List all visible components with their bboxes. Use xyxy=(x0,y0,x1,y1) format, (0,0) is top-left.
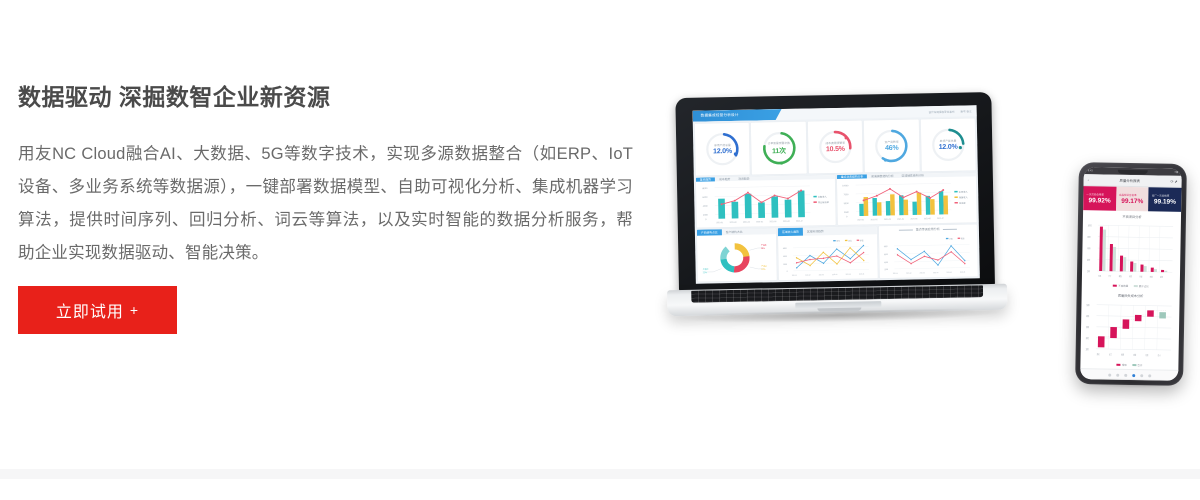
phone-screen: 9:41 ▪▪▮ ‹ 质量分析报表 ⟳ ⬈ 一次交验合格率 99.92% xyxy=(1080,167,1182,381)
svg-text:2021-03: 2021-03 xyxy=(884,219,891,221)
svg-text:外观: 外观 xyxy=(1098,273,1101,278)
svg-text:2021-01: 2021-01 xyxy=(892,273,897,275)
phone-pareto-chart: 不良项目分析 xyxy=(1082,210,1181,291)
phone-kpi-value: 99.92% xyxy=(1089,197,1111,204)
gauge-ring: 订单质量预警次数 11次 xyxy=(759,128,800,169)
nav-actions[interactable]: ⟳ ⬈ xyxy=(1171,179,1178,183)
svg-text:预算收入: 预算收入 xyxy=(959,195,969,199)
svg-text:华南: 华南 xyxy=(860,238,864,242)
svg-text:2021-04: 2021-04 xyxy=(933,272,938,274)
svg-text:1000: 1000 xyxy=(1088,225,1093,227)
svg-text:2000: 2000 xyxy=(703,215,709,217)
svg-text:2021-05: 2021-05 xyxy=(946,272,951,274)
svg-text:2021-06: 2021-06 xyxy=(960,271,965,273)
hero-description: 用友NC Cloud融合AI、大数据、5G等数字技术，实现多源数据整合（如ERP… xyxy=(18,138,633,270)
svg-text:500: 500 xyxy=(1086,304,1089,308)
phone-waterfall-chart: 质量损失成本分析 xyxy=(1080,289,1179,370)
svg-text:34%: 34% xyxy=(761,269,765,271)
svg-text:华北: 华北 xyxy=(848,238,852,242)
svg-text:华东: 华东 xyxy=(837,238,841,242)
plus-icon: + xyxy=(130,302,139,318)
legend-item: 不良数量 xyxy=(1113,284,1129,288)
kpi-value: 11次 xyxy=(772,145,786,155)
svg-text:100: 100 xyxy=(1086,348,1089,352)
svg-text:索赔: 索赔 xyxy=(1133,352,1136,357)
region-line-chart: 华东 华北 华南 xyxy=(778,234,877,280)
laptop-mockup: 数据集成经营分析设计 设计布局保存导出发布 账号 张三 xyxy=(663,92,1008,343)
try-now-button[interactable]: 立即试用 + xyxy=(18,286,177,334)
kpi-value: 12.0% xyxy=(713,148,732,155)
svg-text:600: 600 xyxy=(1087,248,1091,250)
svg-text:2021-01: 2021-01 xyxy=(792,275,797,277)
hero-copy: 数据驱动 深掘数智企业新资源 用友NC Cloud融合AI、大数据、5G等数字技… xyxy=(18,84,633,270)
svg-text:2021-04: 2021-04 xyxy=(897,219,904,221)
kpi-card[interactable]: 成本费用预警率 10.5% xyxy=(808,120,863,173)
laptop-screen: 数据集成经营分析设计 设计布局保存导出发布 账号 张三 xyxy=(693,105,980,283)
product-mix-panel: 产品结构占比 客户结构占比 xyxy=(697,228,777,282)
kpi-label: 订单质量预警次数 xyxy=(768,140,790,144)
chart-canvas: 500400 300200100 xyxy=(1084,298,1175,363)
legend-item: 累计占比 xyxy=(1133,284,1149,288)
svg-text:性能: 性能 xyxy=(1139,274,1142,279)
svg-text:材质: 材质 xyxy=(1129,274,1132,279)
legend-item: 合计 xyxy=(1132,363,1143,367)
svg-text:4000: 4000 xyxy=(703,206,709,208)
try-now-label: 立即试用 xyxy=(56,298,124,322)
svg-text:包装: 包装 xyxy=(1150,274,1153,279)
kpi-row: 单项产能总量 12.0% xyxy=(693,116,978,177)
svg-text:200: 200 xyxy=(1086,337,1089,341)
svg-text:0: 0 xyxy=(705,219,707,221)
svg-text:合计: 合计 xyxy=(1158,353,1161,358)
laptop-lid: 数据集成经营分析设计 设计布局保存导出发布 账号 张三 xyxy=(675,92,995,294)
svg-text:完成率: 完成率 xyxy=(959,201,966,205)
svg-text:产品A: 产品A xyxy=(761,264,767,268)
svg-text:检验: 检验 xyxy=(1145,352,1148,357)
svg-text:6000: 6000 xyxy=(703,197,709,199)
svg-text:计划: 计划 xyxy=(949,236,953,240)
page-dot[interactable] xyxy=(1148,374,1151,377)
mid-chart-row: 营收趋势 成本趋势 利润趋势 xyxy=(694,172,979,227)
svg-text:期初: 期初 xyxy=(1097,351,1100,356)
svg-text:实际: 实际 xyxy=(961,236,965,240)
phone-notch xyxy=(1118,169,1148,174)
svg-text:产品B: 产品B xyxy=(761,243,767,247)
svg-text:300: 300 xyxy=(1086,326,1089,330)
svg-text:2021-02: 2021-02 xyxy=(730,222,737,224)
kpi-value: 10.5% xyxy=(826,146,845,153)
svg-text:5000: 5000 xyxy=(844,203,850,205)
svg-text:400: 400 xyxy=(1087,260,1091,262)
svg-text:2000: 2000 xyxy=(783,264,787,266)
phone-shadow xyxy=(1083,378,1175,389)
phone-nav-title: 质量分析报表 xyxy=(1119,178,1139,183)
svg-text:2021-05: 2021-05 xyxy=(846,274,851,276)
svg-text:2021-03: 2021-03 xyxy=(743,222,750,224)
phone-kpi-card[interactable]: 成品检验合格率 99.17% xyxy=(1116,187,1149,212)
chart-canvas: 1000800 600400200 xyxy=(1086,219,1177,284)
svg-text:同比增长率: 同比增长率 xyxy=(818,200,830,204)
kpi-card[interactable]: 单项产能总量 12.0% xyxy=(695,123,750,176)
svg-text:实际收入: 实际收入 xyxy=(959,190,969,194)
phone-kpi-value: 99.19% xyxy=(1154,198,1176,205)
page-dot-active[interactable] xyxy=(1132,374,1135,377)
phone-kpi-value: 99.17% xyxy=(1121,198,1143,205)
svg-text:返工: 返工 xyxy=(1109,352,1112,357)
page-dot[interactable] xyxy=(1108,373,1111,376)
svg-text:2021-02: 2021-02 xyxy=(805,274,810,276)
phone-kpi-label: 出厂一次合格率 xyxy=(1149,193,1170,197)
svg-text:200: 200 xyxy=(1087,271,1091,273)
svg-text:2021-05: 2021-05 xyxy=(911,218,918,220)
toolbar-account[interactable]: 账号 张三 xyxy=(960,109,971,113)
region-trend-panel: 区域收入趋势 区域利润趋势 华东 华北 华南 xyxy=(778,226,877,280)
svg-text:8000: 8000 xyxy=(883,246,887,248)
kpi-card[interactable]: 资产周转率 46% xyxy=(864,119,919,172)
svg-text:22%: 22% xyxy=(703,272,707,274)
kpi-label: 单项产能总量 xyxy=(940,139,957,143)
bottom-divider xyxy=(0,469,1200,479)
svg-text:2500: 2500 xyxy=(844,212,850,214)
svg-text:尺寸: 尺寸 xyxy=(1108,273,1111,278)
panel-title: 重点传运应用分析 xyxy=(916,227,940,231)
kpi-value: 46% xyxy=(885,145,899,152)
svg-text:2021-06: 2021-06 xyxy=(859,273,864,275)
svg-text:2000: 2000 xyxy=(884,269,888,271)
transport-panel: 重点传运应用分析 计划 实际 xyxy=(878,224,977,278)
svg-text:6000: 6000 xyxy=(884,254,888,256)
svg-text:8000: 8000 xyxy=(702,188,708,190)
page-dot[interactable] xyxy=(1140,374,1143,377)
dashboard-title: 数据集成经营分析设计 xyxy=(693,109,782,122)
svg-text:2021-06: 2021-06 xyxy=(783,221,790,223)
business-bar-chart: 100007500 500025000 xyxy=(837,176,977,225)
gauge-ring: 资产周转率 46% xyxy=(871,126,912,167)
rule-left xyxy=(899,229,913,230)
revenue-bar-chart: 80006000 400020000 xyxy=(696,179,836,228)
phone-kpi-card[interactable]: 出厂一次合格率 99.19% xyxy=(1148,187,1181,212)
svg-text:2021-05: 2021-05 xyxy=(770,221,777,223)
kpi-label: 资产周转率 xyxy=(885,140,899,144)
toolbar-actions[interactable]: 设计布局保存导出发布 xyxy=(929,109,955,113)
svg-text:2021-02: 2021-02 xyxy=(871,219,878,221)
svg-text:2021-03: 2021-03 xyxy=(919,272,924,274)
svg-text:10000: 10000 xyxy=(842,185,849,187)
device-mockups: 数据集成经营分析设计 设计布局保存导出发布 账号 张三 xyxy=(650,95,1200,400)
gauge-ring: 成本费用预警率 10.5% xyxy=(815,127,856,168)
svg-text:800: 800 xyxy=(1088,237,1092,239)
bottom-chart-row: 产品结构占比 客户结构占比 xyxy=(695,222,980,283)
kpi-label: 单项产能总量 xyxy=(714,143,731,147)
rule-right xyxy=(943,228,957,229)
phone-mockup: 9:41 ▪▪▮ ‹ 质量分析报表 ⟳ ⬈ 一次交验合格率 99.92% xyxy=(1075,162,1187,386)
phone-kpi-label: 一次交验合格率 xyxy=(1083,192,1104,196)
product-donut-chart: 产品B28% 产品A34% 产品C22% xyxy=(697,234,777,281)
kpi-card[interactable]: 订单质量预警次数 11次 xyxy=(751,122,806,175)
svg-text:2021-07: 2021-07 xyxy=(937,218,944,220)
status-icons: ▪▪▮ xyxy=(1174,171,1177,174)
page-title: 数据驱动 深掘数智企业新资源 xyxy=(18,84,633,112)
gauge-ring: 单项产能总量 12.0% xyxy=(702,129,743,170)
business-structure-panel: 重点业务结构分析 渠道销售结构分析 区域销售结构分析 xyxy=(837,172,977,225)
kpi-label: 成本费用预警率 xyxy=(825,141,845,145)
svg-text:4000: 4000 xyxy=(783,256,787,258)
svg-text:2021-06: 2021-06 xyxy=(924,218,931,220)
status-time: 9:41 xyxy=(1088,169,1093,172)
revenue-trend-panel: 营收趋势 成本趋势 利润趋势 xyxy=(696,175,836,228)
svg-text:2021-04: 2021-04 xyxy=(756,221,763,223)
svg-text:2021-01: 2021-01 xyxy=(716,222,723,224)
svg-text:28%: 28% xyxy=(761,248,765,250)
svg-text:其他: 其他 xyxy=(1160,274,1163,279)
phone-body: 9:41 ▪▪▮ ‹ 质量分析报表 ⟳ ⬈ 一次交验合格率 99.92% xyxy=(1075,162,1187,386)
svg-text:2021-01: 2021-01 xyxy=(857,219,864,221)
gauge-ring: 单项产能总量 12.0% xyxy=(928,124,969,165)
svg-text:0: 0 xyxy=(787,271,788,273)
legend-item: 增加 xyxy=(1116,363,1127,367)
svg-text:7500: 7500 xyxy=(844,194,850,196)
page-dot[interactable] xyxy=(1116,373,1119,376)
svg-text:2021-07: 2021-07 xyxy=(796,221,803,223)
kpi-card[interactable]: 单项产能总量 12.0% xyxy=(920,118,975,171)
phone-kpi-row: 一次交验合格率 99.92% 成品检验合格率 99.17% 出厂一次合格率 99… xyxy=(1083,186,1181,212)
svg-text:2021-02: 2021-02 xyxy=(906,273,911,275)
hero-section: 数据驱动 深掘数智企业新资源 用友NC Cloud融合AI、大数据、5G等数字技… xyxy=(0,0,1200,500)
svg-text:报废: 报废 xyxy=(1121,352,1124,357)
svg-text:0: 0 xyxy=(846,216,848,218)
svg-text:本期收入: 本期收入 xyxy=(818,195,828,199)
dashboard-toolbar-right: 设计布局保存导出发布 账号 张三 xyxy=(928,105,976,117)
svg-text:400: 400 xyxy=(1086,315,1089,319)
svg-text:产品C: 产品C xyxy=(703,267,709,271)
kpi-value: 12.0% xyxy=(939,144,958,151)
svg-text:6000: 6000 xyxy=(783,248,787,250)
svg-text:装配: 装配 xyxy=(1119,274,1122,279)
chevron-left-icon[interactable]: ‹ xyxy=(1088,178,1089,182)
phone-kpi-label: 成品检验合格率 xyxy=(1116,193,1137,197)
transport-line-chart: 计划 实际 80006000 xyxy=(879,232,978,278)
svg-text:2021-03: 2021-03 xyxy=(819,274,824,276)
svg-text:2021-04: 2021-04 xyxy=(832,274,837,276)
svg-text:4000: 4000 xyxy=(884,262,888,264)
page-dot[interactable] xyxy=(1124,373,1127,376)
phone-kpi-card[interactable]: 一次交验合格率 99.92% xyxy=(1083,186,1116,211)
bi-dashboard: 数据集成经营分析设计 设计布局保存导出发布 账号 张三 xyxy=(693,105,980,283)
